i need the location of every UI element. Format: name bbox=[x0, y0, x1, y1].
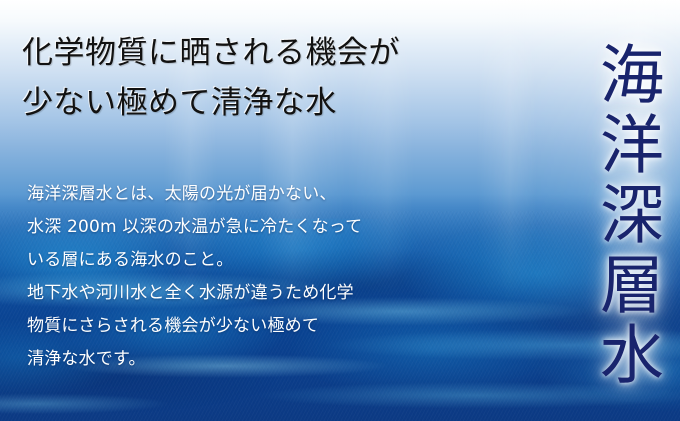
body-description-text: 海洋深層水とは、太陽の光が届かない、 水深 200m 以深の水温が急に冷たくなっ… bbox=[27, 178, 497, 376]
vertical-title-kaiyo-shinsousui: 海洋深層水 bbox=[576, 26, 662, 406]
headline-text: 化学物質に晒される機会が 少ない極めて清浄な水 bbox=[22, 28, 522, 128]
ocean-deep-water-banner: 化学物質に晒される機会が 少ない極めて清浄な水 海洋深層水とは、太陽の光が届かな… bbox=[0, 0, 680, 421]
banner-content: 化学物質に晒される機会が 少ない極めて清浄な水 海洋深層水とは、太陽の光が届かな… bbox=[0, 0, 680, 421]
